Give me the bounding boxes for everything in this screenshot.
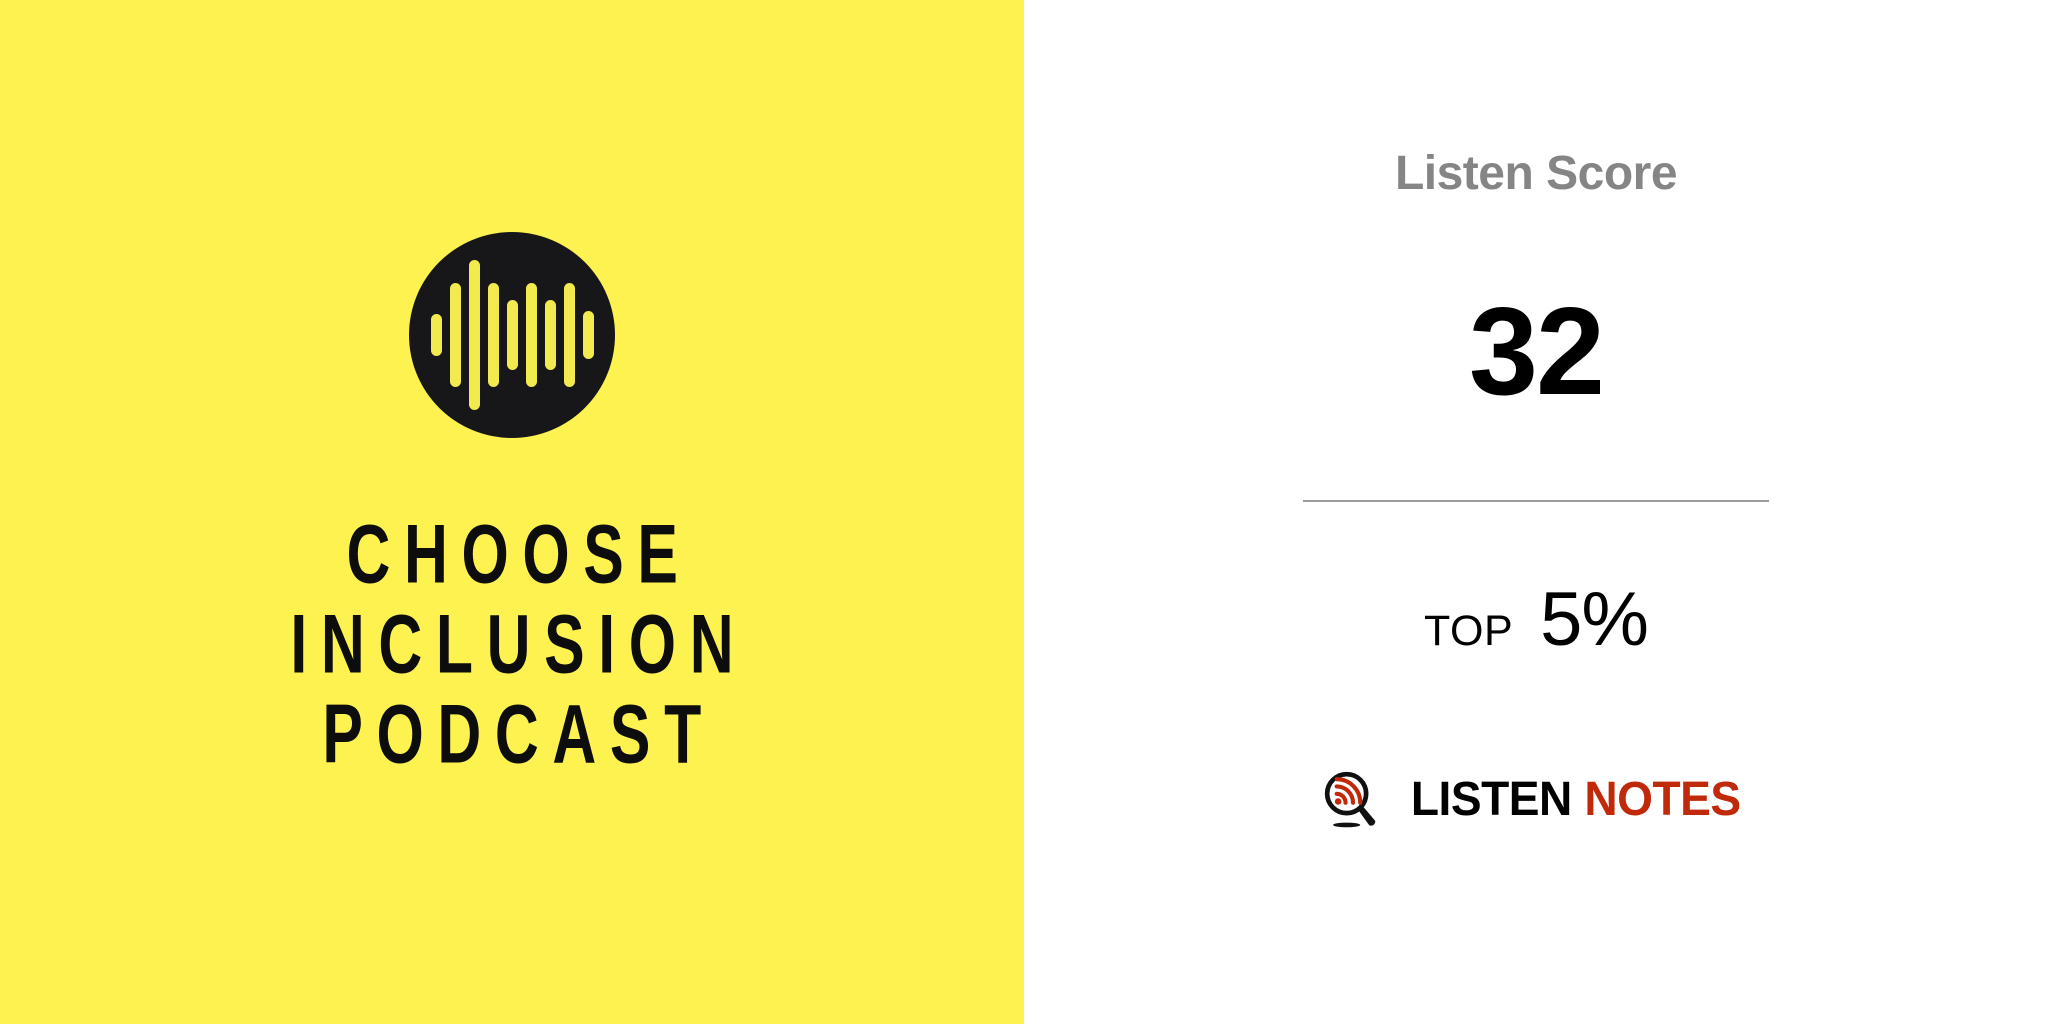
waveform-bar xyxy=(431,314,442,356)
waveform-bar xyxy=(545,300,556,370)
waveform-bar xyxy=(469,260,480,410)
waveform-bar xyxy=(450,283,461,387)
podcast-title: CHOOSE INCLUSION PODCAST xyxy=(218,510,806,779)
brand-word-listen: LISTEN xyxy=(1411,776,1572,824)
rank-percentile-value: 5% xyxy=(1540,576,1648,663)
magnifying-glass-rss-icon xyxy=(1324,771,1382,829)
listen-score-widget: CHOOSE INCLUSION PODCAST Listen Score 32… xyxy=(0,0,2048,1024)
section-divider xyxy=(1303,500,1769,502)
cover-art-content: CHOOSE INCLUSION PODCAST xyxy=(218,232,806,779)
audio-waveform-icon xyxy=(431,260,594,410)
waveform-bar xyxy=(526,283,537,387)
podcast-title-line-1: CHOOSE xyxy=(333,506,692,605)
listen-notes-logo[interactable]: LISTEN NOTES xyxy=(1324,771,1748,829)
podcast-cover-art[interactable]: CHOOSE INCLUSION PODCAST xyxy=(0,0,1024,1024)
rank-row: TOP 5% xyxy=(1424,576,1648,663)
waveform-bar xyxy=(583,311,594,359)
rank-prefix-label: TOP xyxy=(1424,607,1513,656)
listen-notes-wordmark: LISTEN NOTES xyxy=(1411,776,1741,824)
listen-score-panel: Listen Score 32 TOP 5% LISTEN NOTES xyxy=(1024,0,2048,1024)
podcast-title-line-2: INCLUSION xyxy=(277,596,747,695)
waveform-bar xyxy=(564,283,575,387)
listen-score-label: Listen Score xyxy=(1395,150,1677,198)
brand-word-notes: NOTES xyxy=(1585,776,1741,824)
podcast-title-line-3: PODCAST xyxy=(309,685,715,784)
listen-score-value: 32 xyxy=(1469,290,1603,414)
podcast-logo-badge xyxy=(409,232,615,438)
waveform-bar xyxy=(488,283,499,387)
waveform-bar xyxy=(507,300,518,370)
